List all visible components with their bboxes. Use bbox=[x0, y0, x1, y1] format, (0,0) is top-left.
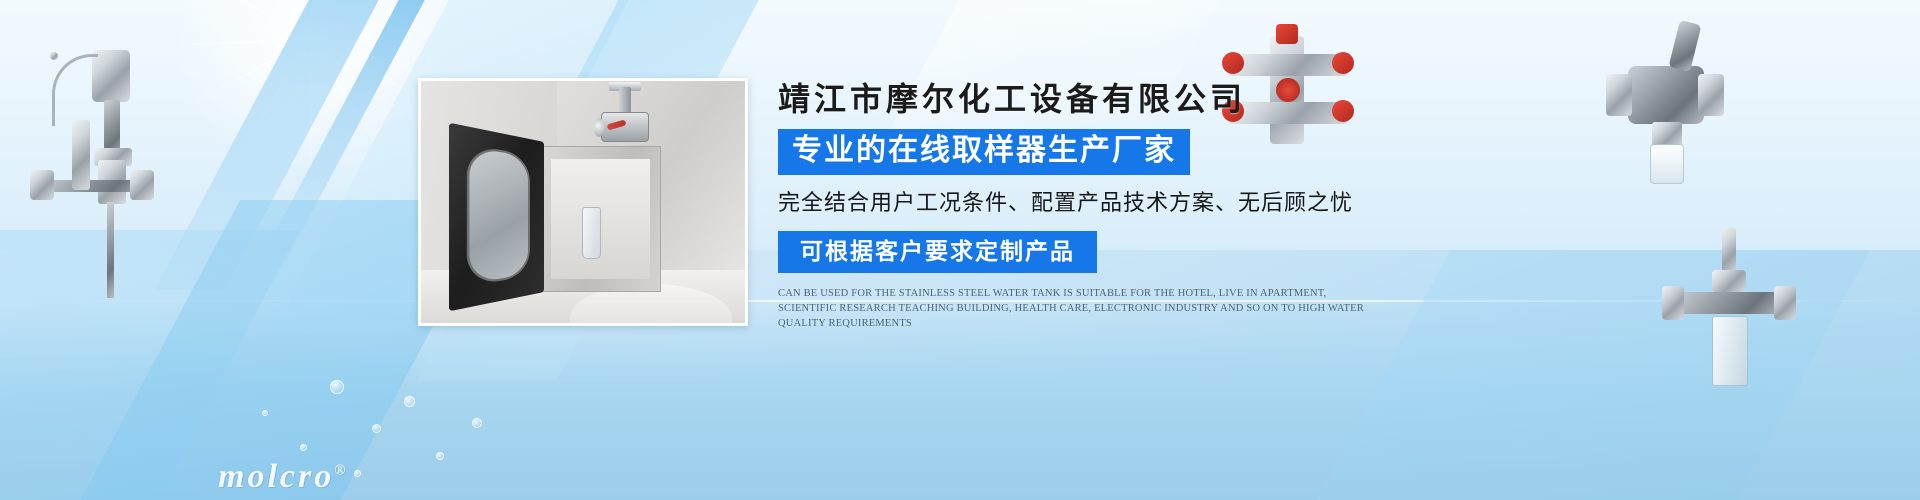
registered-mark-icon: ® bbox=[334, 463, 345, 479]
promo-banner: 靖江市摩尔化工设备有限公司 专业的在线取样器生产厂家 完全结合用户工况条件、配置… bbox=[0, 0, 1920, 500]
water-droplet-icon bbox=[262, 410, 268, 416]
sampler-assembly-right-image bbox=[1660, 228, 1800, 408]
water-droplet-icon bbox=[404, 396, 415, 407]
watermark-text: molcro bbox=[218, 458, 334, 495]
cta-text: 可根据客户要求定制产品 bbox=[800, 237, 1075, 265]
banner-text-block: 靖江市摩尔化工设备有限公司 专业的在线取样器生产厂家 完全结合用户工况条件、配置… bbox=[778, 78, 1418, 331]
water-droplet-icon bbox=[300, 444, 307, 451]
flanged-valve-image bbox=[1600, 26, 1730, 186]
water-droplet-icon bbox=[436, 452, 444, 460]
sampler-assembly-left-image bbox=[12, 30, 162, 300]
product-photo bbox=[418, 78, 748, 326]
water-droplet-icon bbox=[330, 380, 344, 394]
company-name: 靖江市摩尔化工设备有限公司 bbox=[778, 78, 1418, 120]
english-description: CAN BE USED FOR THE STAINLESS STEEL WATE… bbox=[778, 286, 1386, 331]
headline-text: 专业的在线取样器生产厂家 bbox=[792, 134, 1176, 168]
water-droplet-icon bbox=[472, 418, 482, 428]
cta-highlight[interactable]: 可根据客户要求定制产品 bbox=[778, 231, 1097, 273]
water-droplet-icon bbox=[372, 424, 381, 433]
brand-watermark: molcro® bbox=[218, 458, 345, 496]
headline-highlight: 专业的在线取样器生产厂家 bbox=[778, 129, 1190, 175]
water-droplet-icon bbox=[354, 470, 361, 477]
subheadline-text: 完全结合用户工况条件、配置产品技术方案、无后顾之忧 bbox=[778, 188, 1418, 218]
